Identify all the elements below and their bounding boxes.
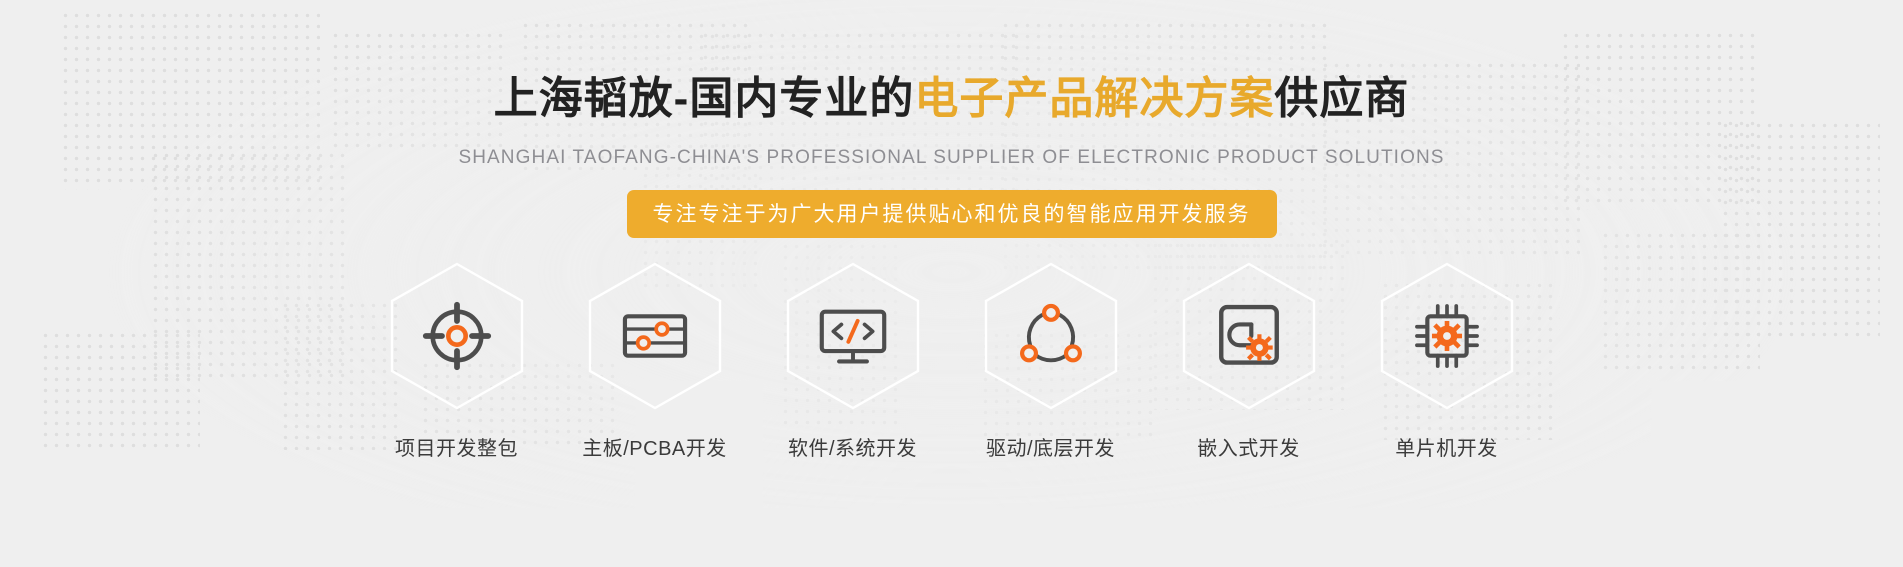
hexagon-frame	[782, 260, 924, 412]
service-label: 驱动/底层开发	[986, 432, 1115, 461]
headline-tail: 供应商	[1274, 74, 1409, 123]
tagline-badge: 专注专注于为广大用户提供贴心和优良的智能应用开发服务	[627, 190, 1277, 238]
service-item-software[interactable]: 软件/系统开发	[773, 260, 933, 461]
service-item-driver[interactable]: 驱动/底层开发	[971, 260, 1131, 461]
embedded-chip-gear-icon	[1212, 299, 1286, 373]
network-nodes-icon	[1014, 299, 1088, 373]
hexagon-frame	[1376, 260, 1518, 412]
banner-subtitle: SHANGHAI TAOFANG-CHINA'S PROFESSIONAL SU…	[0, 147, 1903, 169]
microcontroller-gear-icon	[1410, 299, 1484, 373]
tagline-container: 专注专注于为广大用户提供贴心和优良的智能应用开发服务	[0, 190, 1903, 238]
service-item-mcu[interactable]: 单片机开发	[1367, 260, 1527, 461]
hexagon-frame	[980, 260, 1122, 412]
service-label: 项目开发整包	[395, 432, 518, 461]
service-label: 嵌入式开发	[1197, 432, 1300, 461]
banner-headline: 上海韬放-国内专业的电子产品解决方案供应商	[0, 75, 1903, 123]
service-item-project-package[interactable]: 项目开发整包	[377, 260, 537, 461]
monitor-code-icon	[816, 299, 890, 373]
hexagon-frame	[386, 260, 528, 412]
service-item-pcb[interactable]: 主板/PCBA开发	[575, 260, 735, 461]
hexagon-frame	[1178, 260, 1320, 412]
headline-lead: 上海韬放-国内专业的	[494, 74, 915, 123]
services-row: 项目开发整包 主板/PCBA开发	[0, 260, 1903, 461]
pcb-board-icon	[618, 299, 692, 373]
service-label: 主板/PCBA开发	[582, 432, 727, 461]
hero-banner: 上海韬放-国内专业的电子产品解决方案供应商 SHANGHAI TAOFANG-C…	[0, 0, 1903, 567]
hexagon-frame	[584, 260, 726, 412]
service-item-embedded[interactable]: 嵌入式开发	[1169, 260, 1329, 461]
crosshair-target-icon	[420, 299, 494, 373]
service-label: 单片机开发	[1395, 432, 1498, 461]
headline-accent: 电子产品解决方案	[914, 74, 1274, 123]
service-label: 软件/系统开发	[788, 432, 917, 461]
